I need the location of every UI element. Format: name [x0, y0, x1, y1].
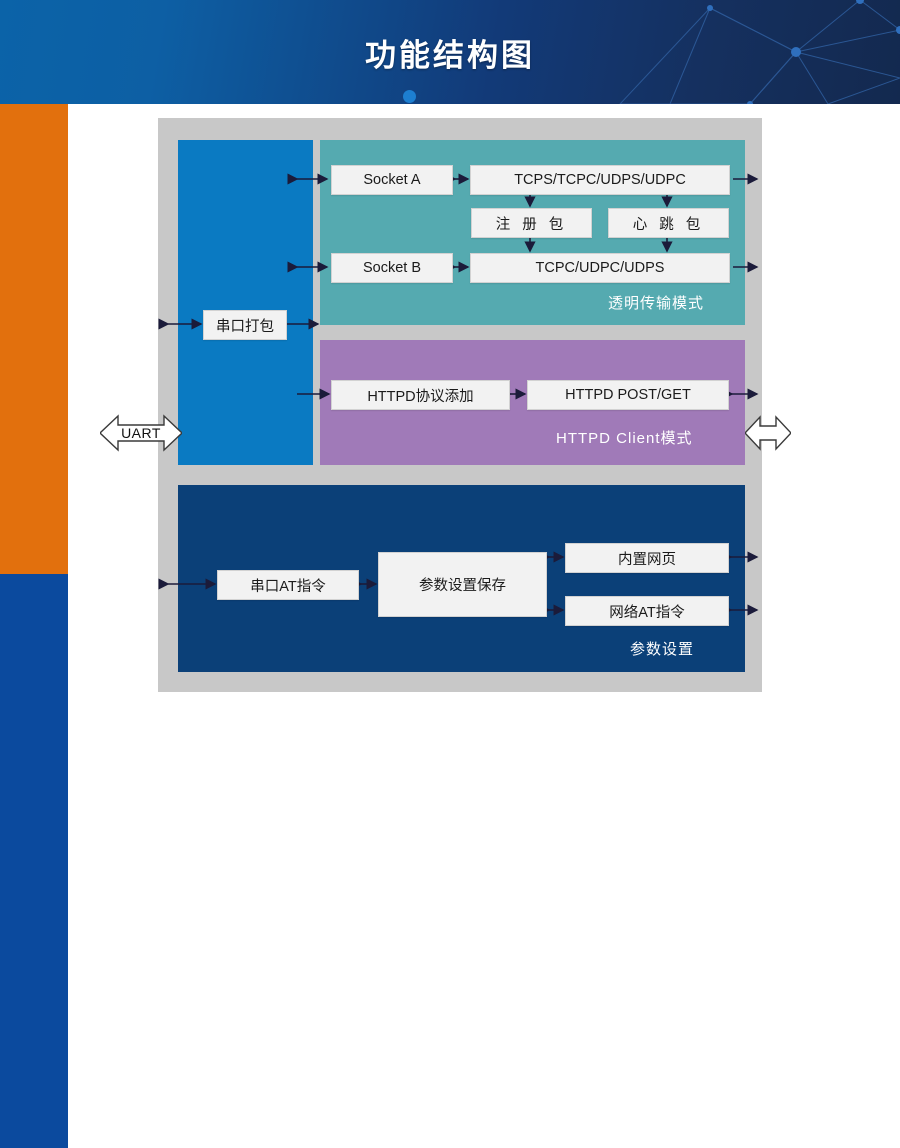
- box-param-save[interactable]: 参数设置保存: [378, 552, 547, 617]
- panel-label-transparent-transmission: 透明传输模式: [608, 292, 704, 313]
- box-heartbeat-packet[interactable]: 心 跳 包: [608, 208, 729, 238]
- box-network-at-command[interactable]: 网络AT指令: [565, 596, 729, 626]
- uart-label: UART: [100, 413, 182, 453]
- box-httpd-post-get[interactable]: HTTPD POST/GET: [527, 380, 729, 410]
- panel-label-parameter-settings: 参数设置: [630, 638, 694, 659]
- box-serial-at-command[interactable]: 串口AT指令: [217, 570, 359, 600]
- panel-label-httpd-client: HTTPD Client模式: [556, 427, 693, 448]
- box-register-packet[interactable]: 注 册 包: [471, 208, 592, 238]
- box-serial-pack[interactable]: 串口打包: [203, 310, 287, 340]
- uart-block: [178, 140, 313, 465]
- wifi-column: [0, 574, 68, 1148]
- page-header: 功能结构图: [0, 0, 900, 104]
- box-httpd-protocol-add[interactable]: HTTPD协议添加: [331, 380, 510, 410]
- diagram-root: 功能结构图 MCU WIFI: [0, 0, 900, 724]
- header-dot-icon: [403, 90, 416, 103]
- box-protocols-a[interactable]: TCPS/TCPC/UDPS/UDPC: [470, 165, 730, 195]
- mcu-label: MCU: [54, 382, 122, 400]
- wifi-double-arrow-icon: [745, 413, 791, 453]
- page-title: 功能结构图: [0, 0, 900, 104]
- box-socket-a[interactable]: Socket A: [331, 165, 453, 195]
- box-builtin-webpage[interactable]: 内置网页: [565, 543, 729, 573]
- wifi-label: WIFI: [783, 382, 851, 400]
- box-socket-b[interactable]: Socket B: [331, 253, 453, 283]
- box-protocols-b[interactable]: TCPC/UDPC/UDPS: [470, 253, 730, 283]
